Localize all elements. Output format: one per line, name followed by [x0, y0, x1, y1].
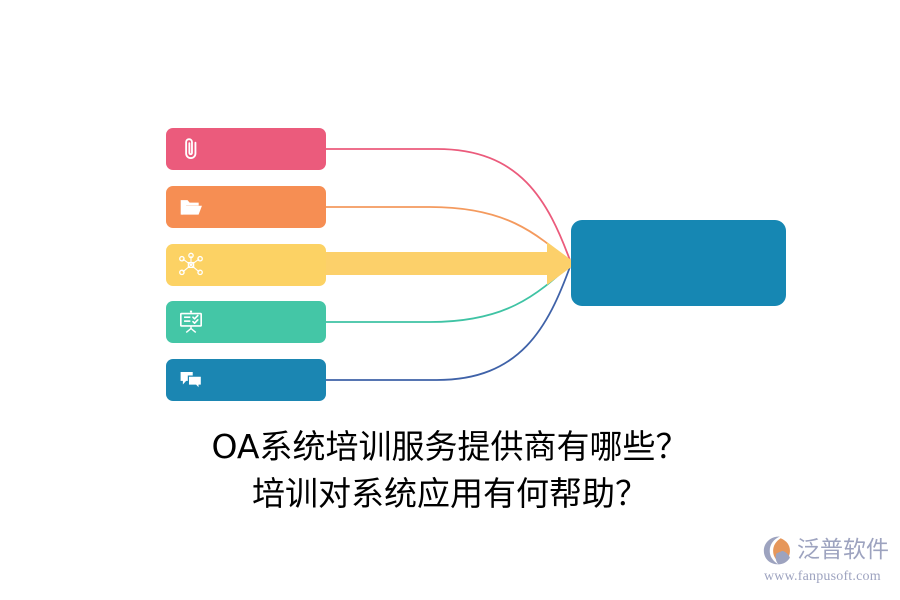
network-hub-icon: [178, 252, 204, 278]
source-item-documents[interactable]: [166, 186, 326, 228]
watermark-brand-text: 泛普软件: [797, 539, 889, 562]
fanpusoft-logo-icon: [762, 534, 796, 566]
watermark-brand-row: 泛普软件: [762, 533, 894, 567]
target-node-oa-system[interactable]: [571, 220, 786, 306]
watermark-url-text: www.fanpusoft.com: [764, 570, 894, 584]
page-title-line-1: OA系统培训服务提供商有哪些？: [0, 424, 900, 471]
source-item-network[interactable]: [166, 244, 326, 286]
presentation-board-icon: [178, 309, 204, 335]
source-item-attachment[interactable]: [166, 128, 326, 170]
page-title-line-2: 培训对系统应用有何帮助？: [0, 471, 900, 518]
poster-canvas: OA系统培训服务提供商有哪些？ 培训对系统应用有何帮助？ 泛普软件 www.fa…: [0, 0, 900, 600]
folder-open-icon: [178, 194, 204, 220]
source-item-training[interactable]: [166, 301, 326, 343]
watermark: 泛普软件 www.fanpusoft.com: [762, 533, 894, 593]
page-title: OA系统培训服务提供商有哪些？ 培训对系统应用有何帮助？: [0, 424, 900, 518]
connector-lines: [0, 0, 900, 420]
connector-network-arrow: [326, 242, 576, 285]
connector-attachment: [326, 149, 571, 263]
convergence-diagram: [0, 0, 900, 420]
source-item-communication[interactable]: [166, 359, 326, 401]
paperclip-icon: [178, 136, 204, 162]
chat-bubbles-icon: [178, 367, 204, 393]
